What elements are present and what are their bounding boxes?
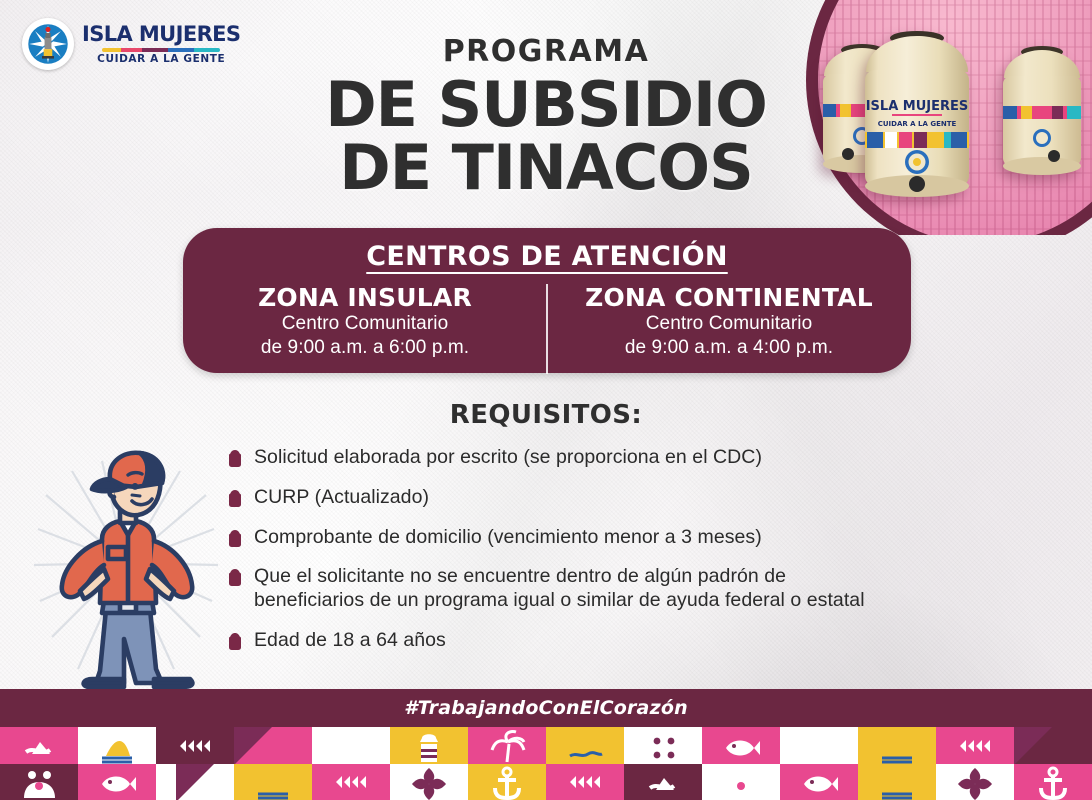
tinaco-bullet-icon: [228, 530, 242, 547]
worker-mascot-icon: [32, 443, 220, 691]
svg-text:ISLA MUJERES: ISLA MUJERES: [866, 99, 969, 114]
footer-hashtag: #TrabajandoConElCorazón: [404, 697, 688, 719]
footer-pattern-band: [0, 727, 1092, 800]
centers-panel: CENTROS DE ATENCIÓN ZONA INSULAR Centro …: [183, 228, 911, 373]
requirement-text: Comprobante de domicilio (vencimiento me…: [254, 526, 762, 548]
tinaco-bullet-icon: [228, 450, 242, 467]
zones-row: ZONA INSULAR Centro Comunitario de 9:00 …: [183, 284, 911, 360]
poster-root: ISLA MUJERES CUIDAR A LA GENTE: [0, 0, 1092, 800]
brand-color-rule: [102, 48, 220, 52]
tank-corner-graphic: ISLA MUJERES CUIDAR A LA GENTE: [792, 0, 1092, 235]
zone-divider: [546, 284, 548, 374]
zone-continental-place: Centro Comunitario: [547, 312, 911, 336]
requirement-text: CURP (Actualizado): [254, 486, 429, 508]
requirement-item: Solicitud elaborada por escrito (se prop…: [228, 446, 888, 470]
zone-continental: ZONA CONTINENTAL Centro Comunitario de 9…: [547, 284, 911, 360]
tinaco-bullet-icon: [228, 490, 242, 507]
zone-continental-hours: de 9:00 a.m. a 4:00 p.m.: [547, 336, 911, 360]
requirement-item: CURP (Actualizado): [228, 486, 888, 510]
requirements-heading: REQUISITOS:: [0, 400, 1092, 430]
requirement-text: Edad de 18 a 64 años: [254, 629, 446, 651]
isla-mujeres-seal-icon: [22, 18, 74, 70]
zone-insular: ZONA INSULAR Centro Comunitario de 9:00 …: [183, 284, 547, 360]
zone-insular-place: Centro Comunitario: [183, 312, 547, 336]
zone-insular-name: ZONA INSULAR: [183, 284, 547, 312]
footer-bar: #TrabajandoConElCorazón: [0, 689, 1092, 727]
brand-name: ISLA MUJERES: [82, 24, 240, 45]
svg-text:CUIDAR A LA GENTE: CUIDAR A LA GENTE: [878, 120, 957, 128]
tinaco-bullet-icon: [228, 633, 242, 650]
tinaco-bullet-icon: [228, 569, 242, 586]
water-tank-center-icon: ISLA MUJERES CUIDAR A LA GENTE: [854, 18, 980, 210]
centers-heading: CENTROS DE ATENCIÓN: [183, 228, 911, 272]
requirement-item: Que el solicitante no se encuentre dentr…: [228, 565, 888, 613]
requirement-text: Solicitud elaborada por escrito (se prop…: [254, 446, 762, 468]
requirement-item: Edad de 18 a 64 años: [228, 629, 888, 653]
brand-tagline: CUIDAR A LA GENTE: [97, 54, 225, 65]
water-tank-right-icon: [994, 34, 1090, 184]
requirement-text: Que el solicitante no se encuentre dentr…: [254, 565, 865, 611]
requirement-item: Comprobante de domicilio (vencimiento me…: [228, 526, 888, 550]
brand-wordmark: ISLA MUJERES CUIDAR A LA GENTE: [82, 24, 240, 65]
zone-insular-hours: de 9:00 a.m. a 6:00 p.m.: [183, 336, 547, 360]
requirements-list: Solicitud elaborada por escrito (se prop…: [228, 446, 888, 669]
brand-logo: ISLA MUJERES CUIDAR A LA GENTE: [22, 18, 240, 70]
zone-continental-name: ZONA CONTINENTAL: [547, 284, 911, 312]
nautical-mosaic-icon: [0, 727, 1092, 800]
